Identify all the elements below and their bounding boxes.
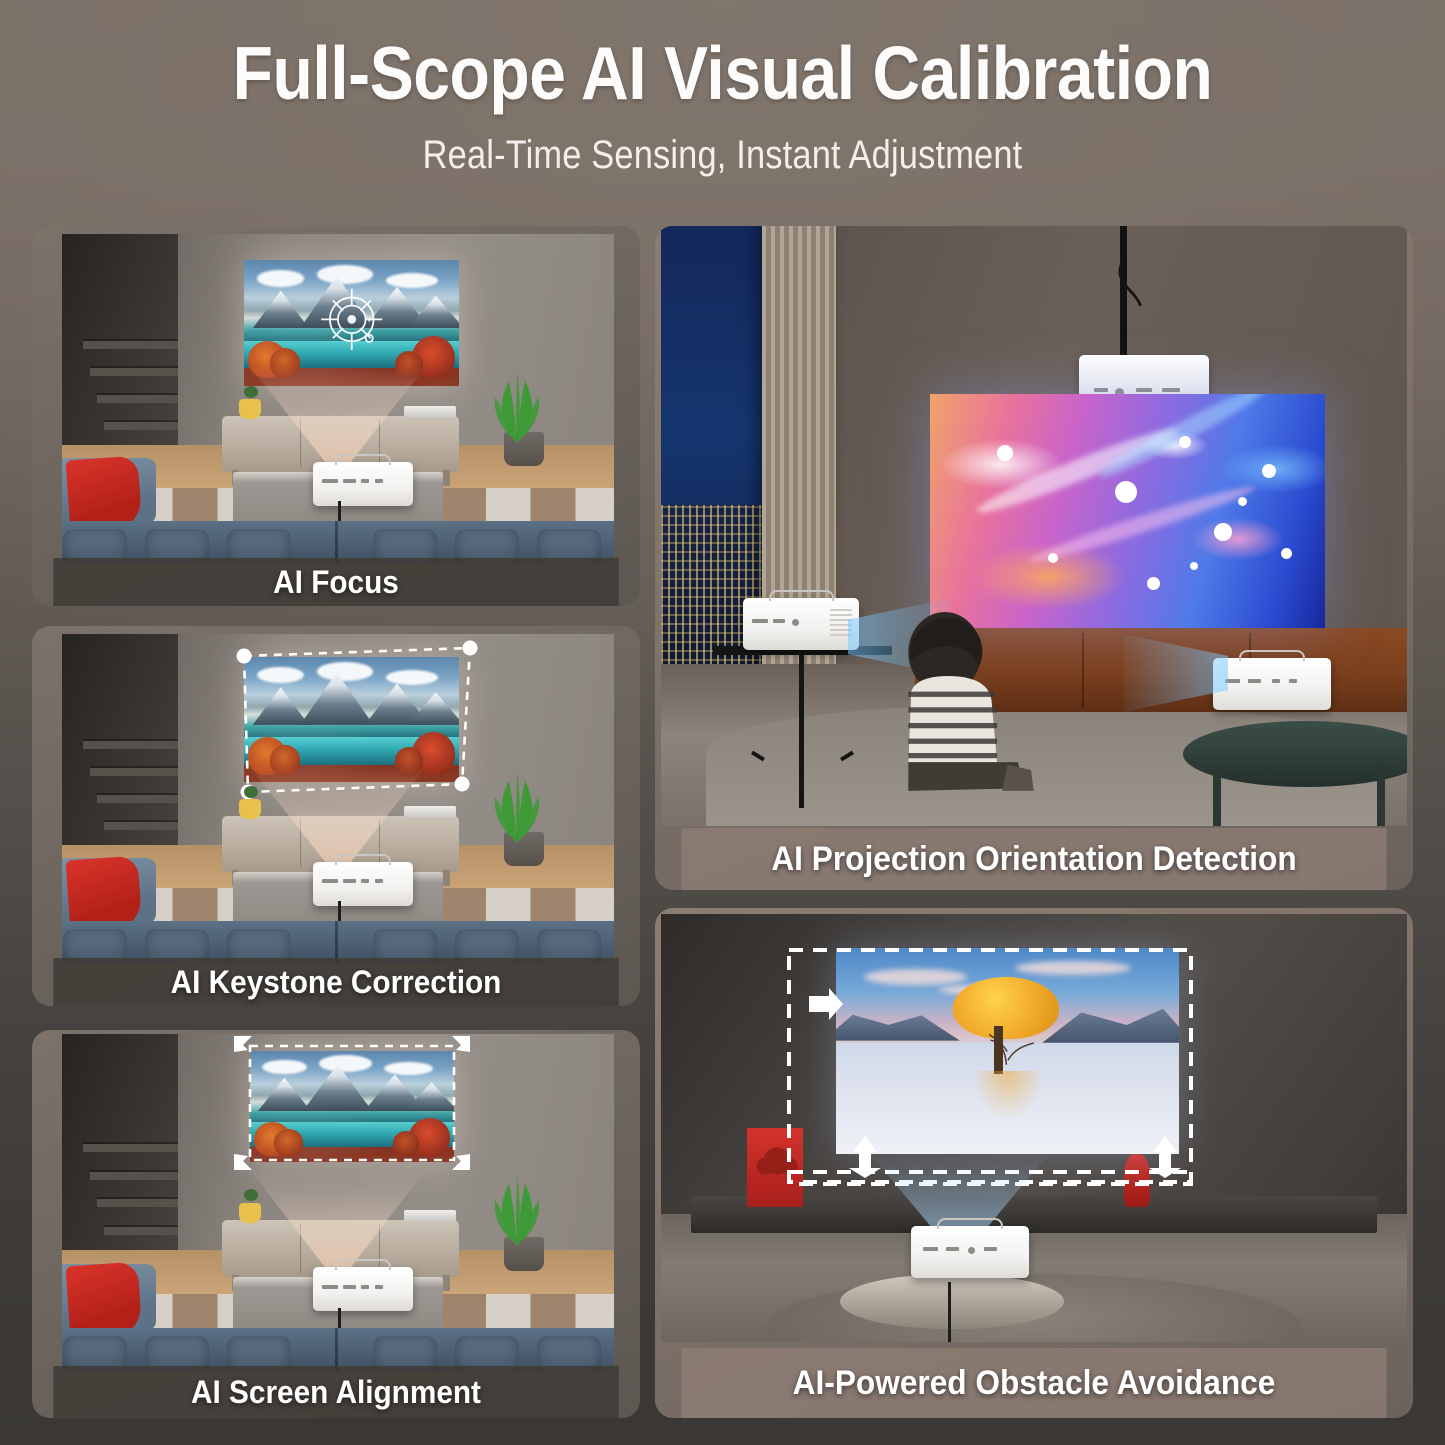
feature-card-keystone[interactable]: AI Keystone Correction [32, 626, 640, 1006]
page-title: Full-Scope AI Visual Calibration [87, 0, 1359, 111]
living-room-scene [62, 234, 614, 564]
corner-arrow-icons [234, 1036, 470, 1170]
console-book [404, 806, 456, 818]
projector-on-round-table[interactable] [1213, 658, 1331, 710]
child-figure [877, 598, 1034, 814]
feature-card-ai-focus[interactable]: AI Focus [32, 226, 640, 606]
round-coffee-table [840, 1274, 1064, 1330]
keystone-photo [62, 634, 614, 964]
orientation-photo [661, 226, 1407, 826]
card-caption-ai-focus: AI Focus [53, 558, 618, 606]
shift-arrow-icons [809, 988, 1181, 1178]
page-header: Full-Scope AI Visual Calibration Real-Ti… [0, 0, 1445, 178]
obstacle-shift-overlay [661, 914, 1407, 1342]
console-book [404, 1210, 456, 1222]
feature-card-screen-alignment[interactable]: AI Screen Alignment [32, 1030, 640, 1418]
ceiling-cable [1094, 244, 1184, 364]
projector-device[interactable] [911, 1226, 1029, 1278]
vase-plant [244, 386, 258, 398]
keystone-handle-top-left [237, 649, 252, 664]
focus-reticle-icon [313, 283, 390, 356]
living-room-scene [62, 634, 614, 964]
obstacle-photo [661, 914, 1407, 1342]
alignment-photo [62, 1034, 614, 1372]
vase [239, 1203, 261, 1223]
vase [239, 399, 261, 419]
stairwell [62, 234, 178, 478]
projector-on-tripod-stand[interactable] [743, 598, 859, 650]
console-book [404, 406, 456, 418]
ai-focus-photo [62, 234, 614, 564]
projector-device[interactable] [313, 862, 413, 906]
dark-media-wall-scene [661, 914, 1407, 1342]
vase-plant [244, 786, 258, 798]
feature-card-obstacle-avoidance[interactable]: AI-Powered Obstacle Avoidance [655, 908, 1413, 1418]
card-caption-obstacle-avoidance: AI-Powered Obstacle Avoidance [682, 1348, 1387, 1418]
table-leg [1213, 766, 1221, 826]
page-subtitle: Real-Time Sensing, Instant Adjustment [101, 111, 1344, 178]
card-caption-screen-alignment: AI Screen Alignment [53, 1366, 618, 1418]
product-feature-page: Full-Scope AI Visual Calibration Real-Ti… [0, 0, 1445, 1445]
vase [239, 799, 261, 819]
table-leg [1377, 766, 1385, 826]
projector-device[interactable] [313, 1267, 413, 1311]
keystone-handle-bottom-right [455, 777, 470, 792]
projector-device[interactable] [313, 462, 413, 506]
projected-image-area [930, 394, 1325, 628]
feature-card-orientation-detection[interactable]: AI Projection Orientation Detection [655, 226, 1413, 890]
arrow-right-icon [809, 988, 843, 1020]
night-living-room-scene [661, 226, 1407, 826]
power-cord [948, 1282, 951, 1342]
keystone-handle-top-right [463, 641, 478, 656]
card-caption-orientation-detection: AI Projection Orientation Detection [682, 828, 1387, 890]
card-caption-keystone: AI Keystone Correction [53, 958, 618, 1006]
artwork-abstract-light-waves [930, 394, 1325, 628]
living-room-scene [62, 1034, 614, 1372]
